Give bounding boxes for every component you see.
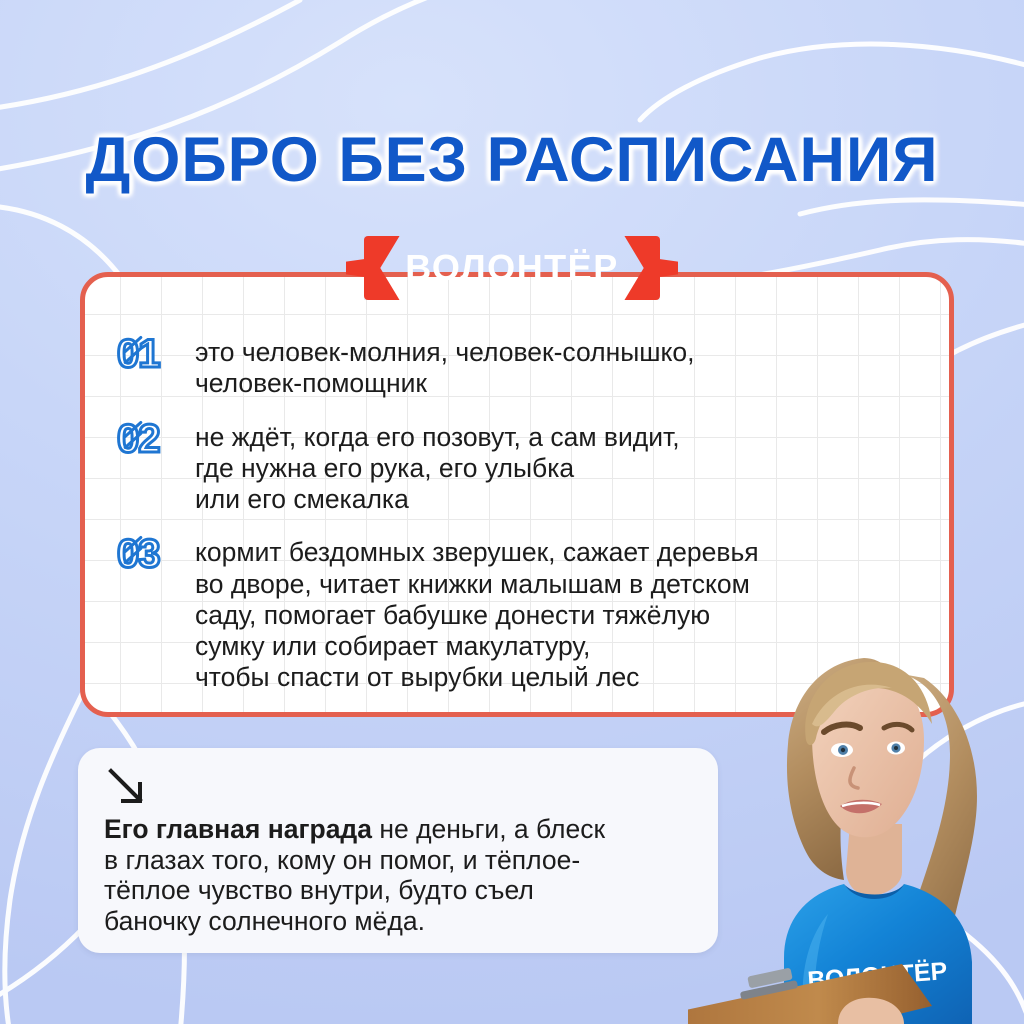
list-item-line: чтобы спасти от вырубки целый лес [195,662,759,693]
list-item-line: или его смекалка [195,484,680,515]
volunteer-ribbon-label: ВОЛОНТЁР [364,236,660,300]
list-item-line: саду, помогает бабушке донести тяжёлую [195,600,759,631]
list-item-number: 01 [117,333,195,375]
highlight-note-line: не деньги, а блеск [372,814,605,844]
highlight-note: Его главная награда не деньги, а блеск в… [78,748,718,953]
highlight-note-line: баночку солнечного мёда. [104,906,696,937]
list-item-line: не ждёт, когда его позовут, а сам видит, [195,422,680,453]
list-item-line: кормит бездомных зверушек, сажает деревь… [195,537,759,568]
list-item-line: во дворе, читает книжки малышам в детско… [195,569,759,600]
list-item-text: это человек-молния, человек-солнышко, че… [195,335,695,400]
arrow-down-right-icon [106,766,150,810]
list-item-line: где нужна его рука, его улыбка [195,453,680,484]
list-item: 01 это человек-молния, человек-солнышко,… [117,335,923,400]
highlight-note-line: в глазах того, кому он помог, и тёплое- [104,845,696,876]
page-title: ДОБРО БЕЗ РАСПИСАНИЯ [0,124,1024,196]
highlight-note-lead: Его главная награда [104,814,372,844]
list-item-text: не ждёт, когда его позовут, а сам видит,… [195,420,680,516]
list-item-text: кормит бездомных зверушек, сажает деревь… [195,535,759,693]
list-item-number: 03 [117,533,195,575]
highlight-note-line: тёплое чувство внутри, будто съел [104,875,696,906]
highlight-note-text: Его главная награда не деньги, а блеск в… [104,814,696,937]
list-item-line: человек-помощник [195,368,695,399]
list-item-line: сумку или собирает макулатуру, [195,631,759,662]
list-item: 02 не ждёт, когда его позовут, а сам вид… [117,420,923,516]
list-item-number: 02 [117,418,195,460]
volunteer-photo: ВОЛОНТЁР [688,628,1024,1024]
list-item-line: это человек-молния, человек-солнышко, [195,337,695,368]
poster-canvas: ДОБРО БЕЗ РАСПИСАНИЯ 01 это человек-молн… [0,0,1024,1024]
